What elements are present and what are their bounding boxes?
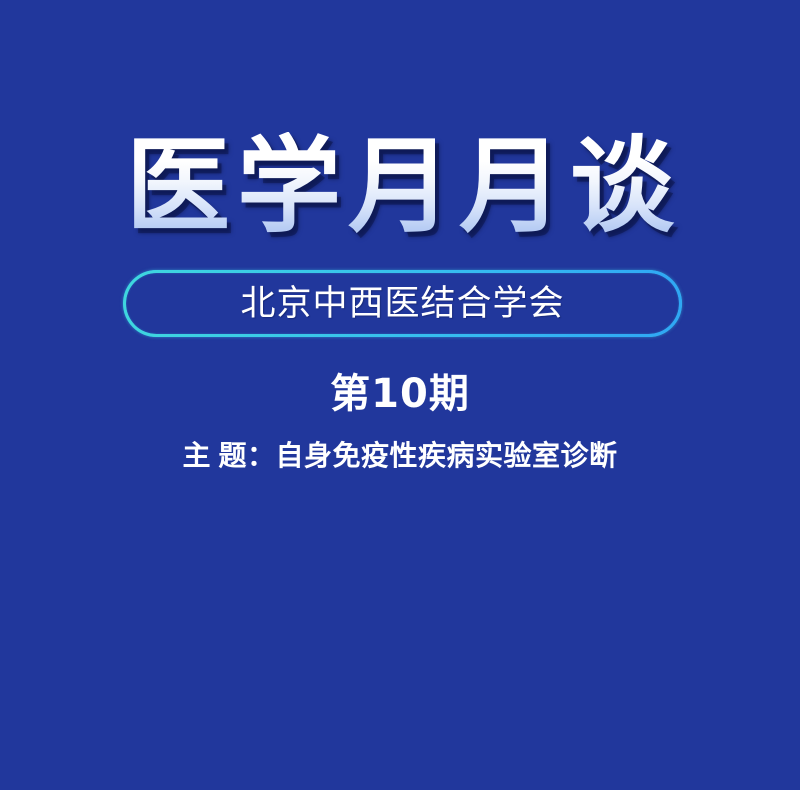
organization-name: 北京中西医结合学会 xyxy=(240,284,564,324)
organization-pill: 北京中西医结合学会 xyxy=(123,270,682,337)
empty-background-area xyxy=(0,500,800,790)
brand-title-container: 医学月月谈 xyxy=(0,128,800,248)
issue-number: 第10期 xyxy=(0,370,800,418)
brand-title: 医学月月谈 xyxy=(119,132,681,244)
poster-canvas: 医学月月谈 医学月月谈 北京中西医结合学会 第10期 主 题：自身免疫性疾病实验… xyxy=(0,0,800,790)
topic-line: 主 题：自身免疫性疾病实验室诊断 xyxy=(0,440,800,474)
